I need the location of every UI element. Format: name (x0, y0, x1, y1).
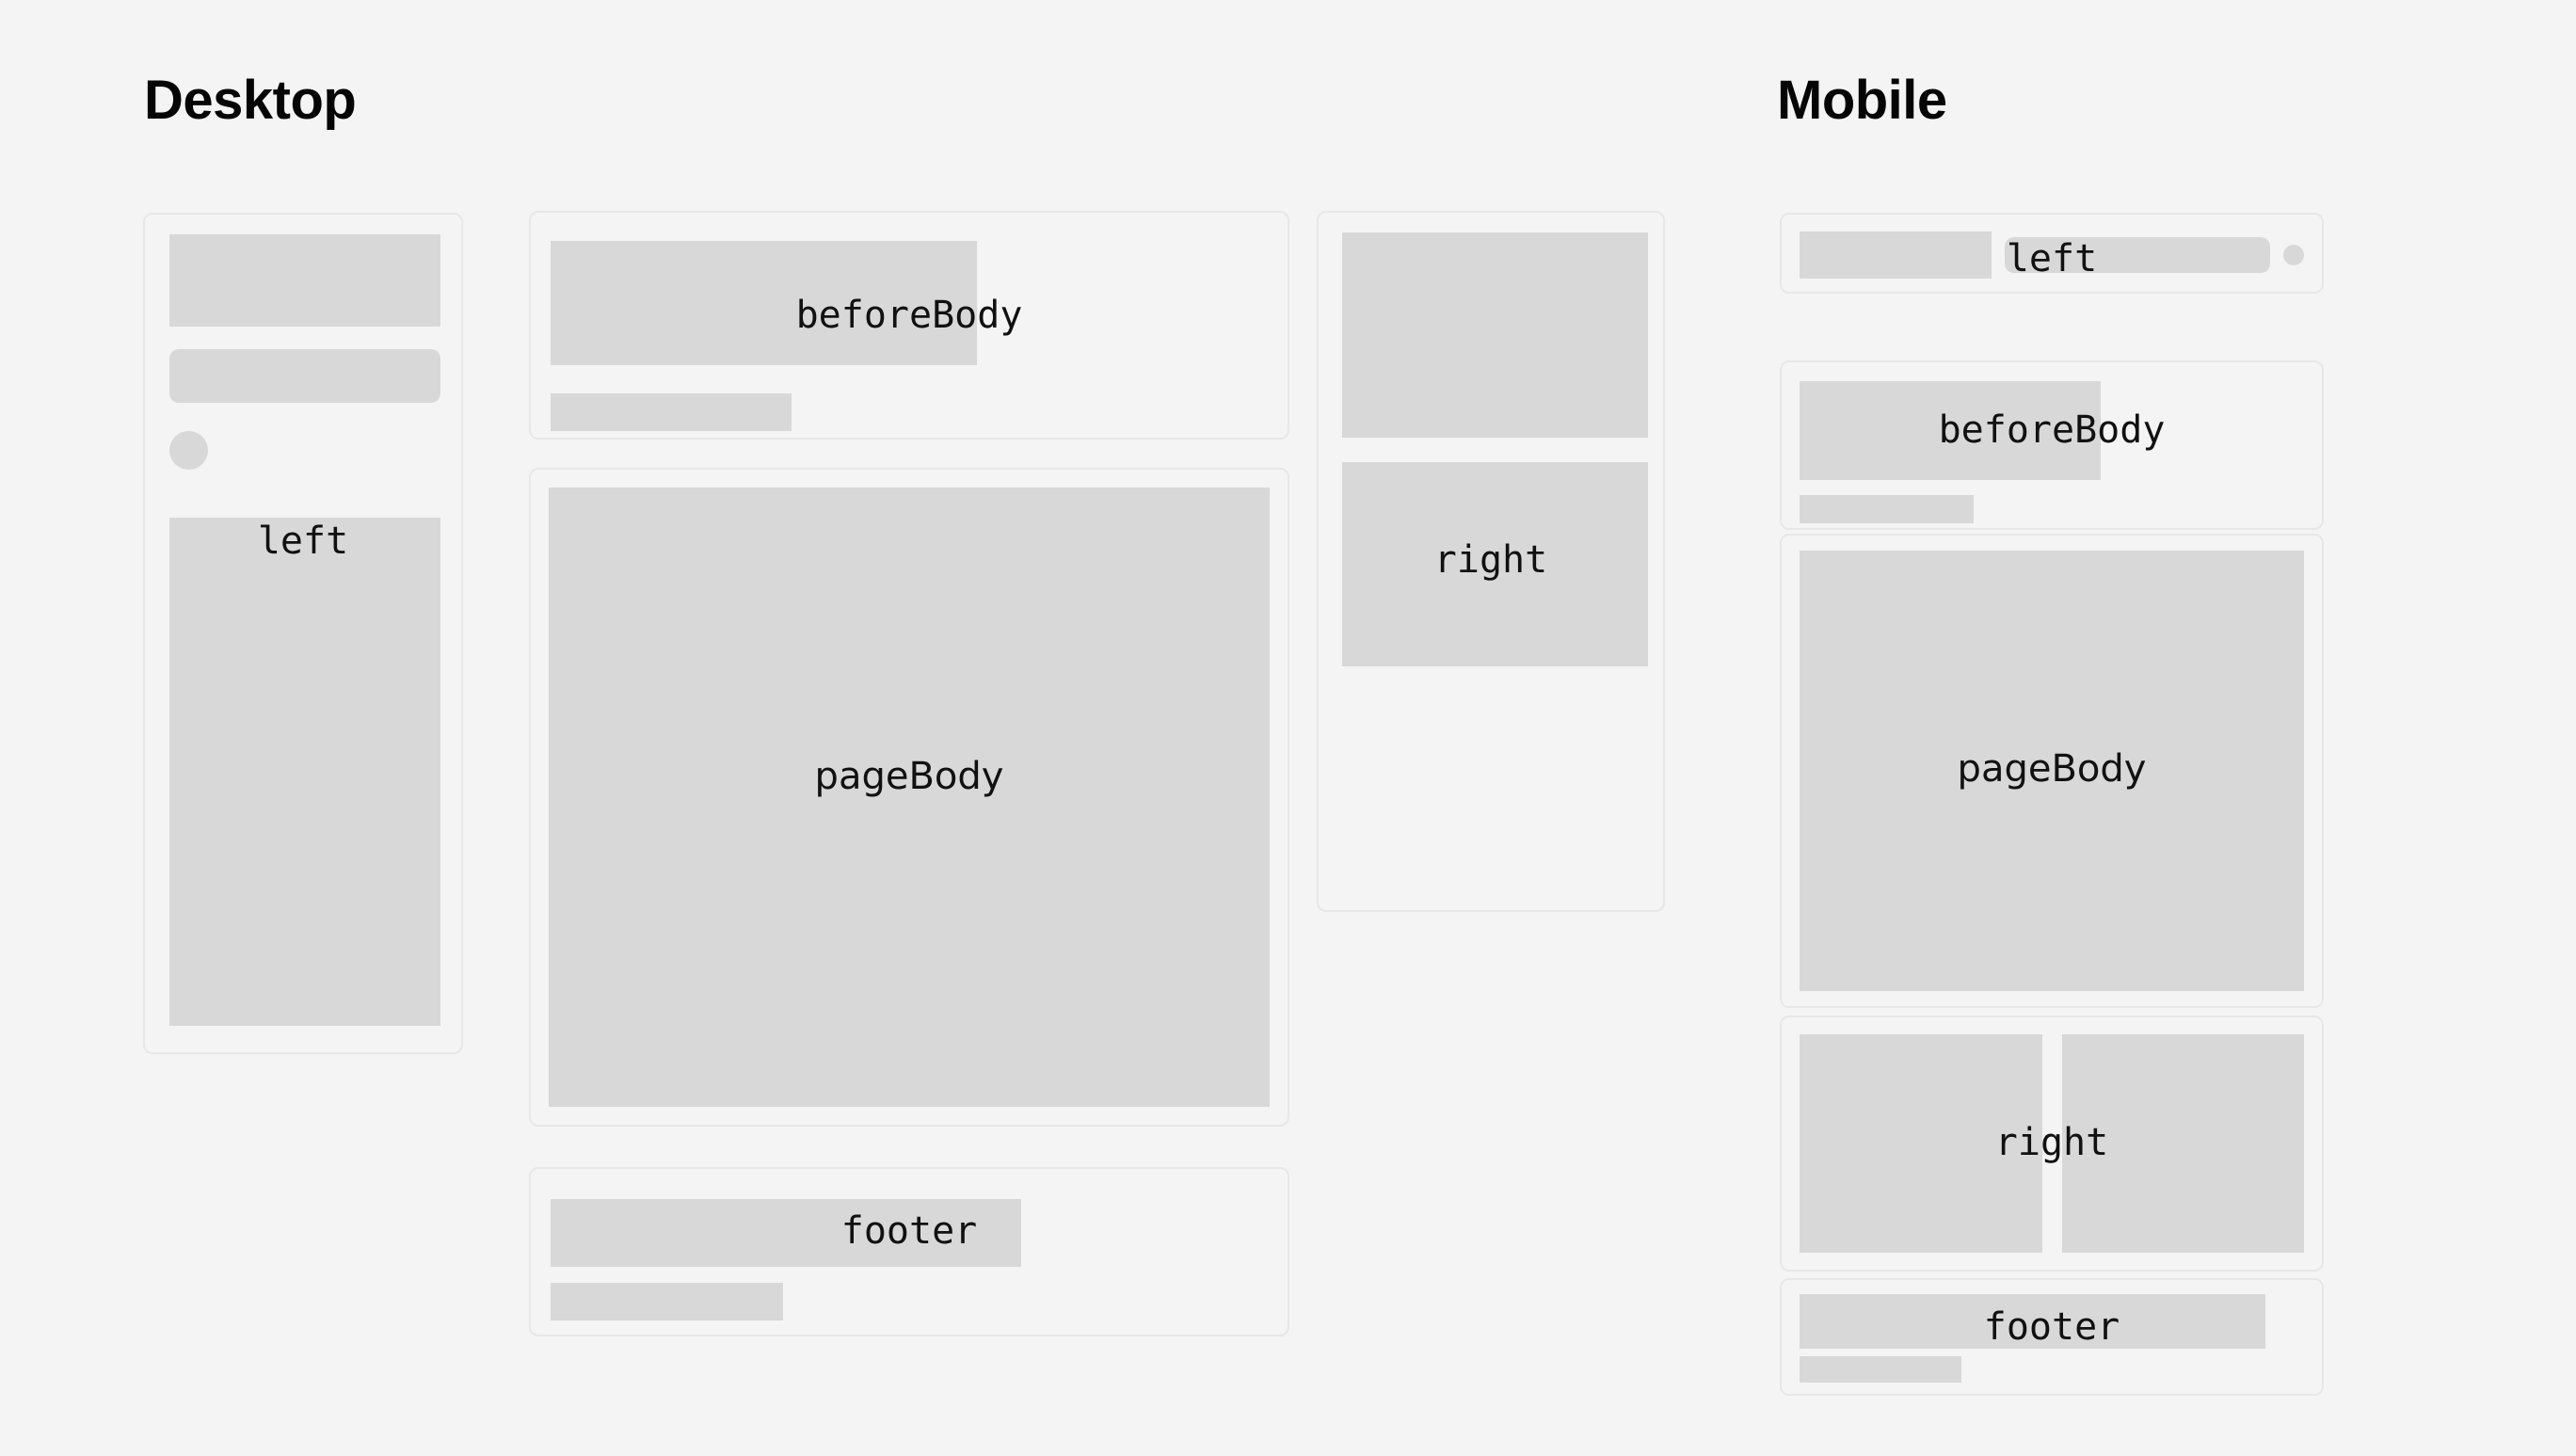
skeleton-bar (1800, 1356, 1961, 1383)
mobile-section-title: Mobile (1777, 73, 1947, 128)
mobile-left-region[interactable] (1780, 213, 2324, 294)
skeleton-block (1342, 462, 1648, 666)
skeleton-block (169, 234, 440, 327)
desktop-page-body-region[interactable] (529, 468, 1289, 1127)
skeleton-block (1800, 1034, 2042, 1253)
skeleton-avatar-circle-icon (169, 431, 208, 470)
skeleton-bar (2005, 237, 2270, 273)
skeleton-block (1800, 381, 2101, 480)
mobile-page-body-region[interactable] (1780, 534, 2324, 1008)
skeleton-panel (169, 518, 440, 1026)
skeleton-block (2062, 1034, 2305, 1253)
desktop-right-rail-region[interactable] (1317, 211, 1665, 912)
skeleton-block (1800, 232, 1992, 279)
skeleton-block (549, 488, 1270, 1107)
mobile-right-region[interactable] (1780, 1016, 2324, 1272)
skeleton-bar (551, 1199, 1021, 1267)
skeleton-bar (169, 349, 440, 403)
skeleton-block (1342, 232, 1648, 438)
skeleton-block (1800, 551, 2304, 991)
desktop-section-title: Desktop (144, 73, 356, 128)
desktop-before-body-region[interactable] (529, 211, 1289, 440)
skeleton-avatar-circle-icon (2283, 245, 2304, 265)
mobile-before-body-region[interactable] (1780, 360, 2324, 530)
skeleton-bar (551, 393, 792, 431)
mobile-right-row (1800, 1034, 2304, 1253)
skeleton-bar (1800, 495, 1974, 523)
skeleton-bar (551, 1283, 783, 1320)
desktop-footer-region[interactable] (529, 1167, 1289, 1336)
mobile-footer-region[interactable] (1780, 1278, 2324, 1396)
skeleton-block (551, 241, 977, 365)
mobile-left-row (1800, 232, 2304, 279)
desktop-left-sidebar-region[interactable] (143, 213, 463, 1054)
skeleton-bar (1800, 1294, 2265, 1349)
